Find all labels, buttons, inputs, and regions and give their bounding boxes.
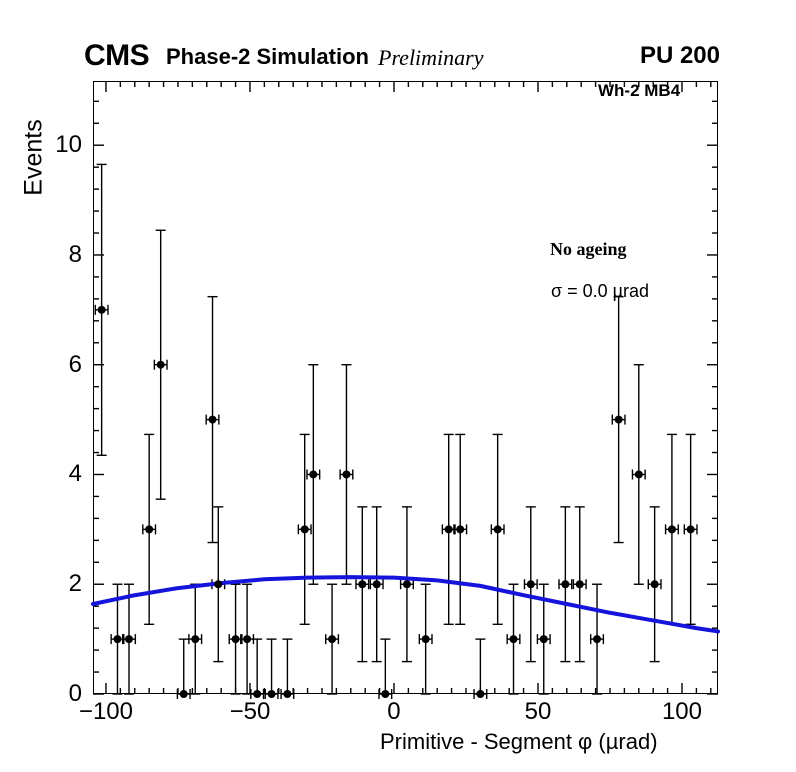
data-point <box>253 690 261 698</box>
data-point <box>191 635 199 643</box>
data-point <box>157 361 165 369</box>
data-point <box>615 416 623 424</box>
y-tick-label: 2 <box>38 572 82 596</box>
data-point <box>510 635 518 643</box>
y-tick-label: 10 <box>38 133 82 157</box>
axis-ticks <box>93 81 718 694</box>
data-point <box>283 690 291 698</box>
data-point <box>527 580 535 588</box>
data-point <box>125 635 133 643</box>
data-point <box>328 635 336 643</box>
plot-graphics <box>0 0 796 772</box>
y-axis-title: Events <box>22 88 47 228</box>
data-point <box>593 635 601 643</box>
data-point <box>687 525 695 533</box>
plot-canvas: CMS Phase-2 Simulation Preliminary PU 20… <box>0 0 796 772</box>
data-point <box>180 690 188 698</box>
y-tick-label: 8 <box>38 243 82 267</box>
data-point <box>98 306 106 314</box>
ageing-label: No ageing <box>550 240 627 258</box>
data-point <box>456 525 464 533</box>
x-axis-title: Primitive - Segment φ (µrad) <box>380 731 658 753</box>
data-point <box>403 580 411 588</box>
data-point <box>540 635 548 643</box>
data-point <box>209 416 217 424</box>
data-point <box>373 580 381 588</box>
x-tick-label: −50 <box>205 700 295 724</box>
data-point <box>214 580 222 588</box>
data-point <box>301 525 309 533</box>
y-tick-label: 4 <box>38 462 82 486</box>
data-point <box>494 525 502 533</box>
data-point <box>243 635 251 643</box>
data-point <box>576 580 584 588</box>
data-point <box>422 635 430 643</box>
data-point <box>145 525 153 533</box>
data-point <box>113 635 121 643</box>
chamber-label: Wh-2 MB4 <box>598 82 680 99</box>
data-point <box>476 690 484 698</box>
data-point <box>668 525 676 533</box>
data-point <box>268 690 276 698</box>
data-point <box>635 470 643 478</box>
data-point <box>342 470 350 478</box>
y-tick-label: 6 <box>38 353 82 377</box>
x-tick-label: 50 <box>493 700 583 724</box>
data-point <box>381 690 389 698</box>
sigma-label: σ = 0.0 µrad <box>551 282 649 300</box>
data-point <box>651 580 659 588</box>
x-tick-label: 100 <box>637 700 727 724</box>
data-point <box>445 525 453 533</box>
y-tick-label: 0 <box>38 682 82 706</box>
data-point <box>309 470 317 478</box>
data-point <box>232 635 240 643</box>
data-point <box>358 580 366 588</box>
data-point <box>561 580 569 588</box>
x-tick-label: 0 <box>349 700 439 724</box>
